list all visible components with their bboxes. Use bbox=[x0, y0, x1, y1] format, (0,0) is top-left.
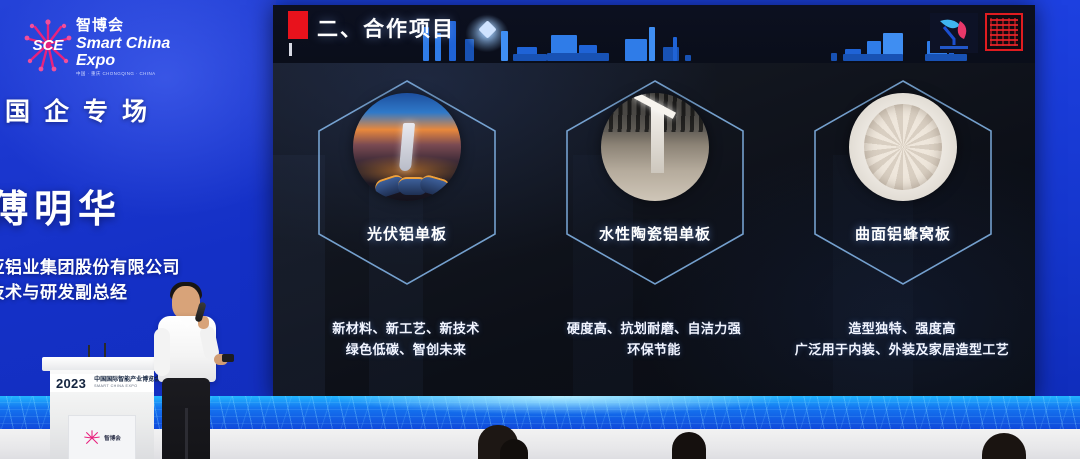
title-tick-mark bbox=[289, 43, 292, 56]
podium-burst-icon bbox=[83, 429, 101, 447]
product-caption-3: 造型独特、强度高 广泛用于内装、外装及家居造型工艺 bbox=[777, 318, 1027, 360]
right-backdrop-column bbox=[1034, 0, 1080, 420]
product-caption-2-line1: 硬度高、抗划耐磨、自洁力强 bbox=[529, 318, 779, 339]
logo-burst-icon: SCE bbox=[20, 18, 76, 74]
presenter-clicker-icon bbox=[222, 354, 234, 362]
logo-english-line1: Smart China bbox=[76, 35, 170, 52]
product-photo-3 bbox=[849, 93, 957, 201]
projected-slide: 二、合作项目 bbox=[273, 5, 1035, 401]
slide-header: 二、合作项目 bbox=[273, 5, 1035, 63]
speaker-name: 傅明华 bbox=[0, 178, 270, 233]
product-title-2: 水性陶瓷铝单板 bbox=[557, 223, 753, 244]
product-caption-1: 新材料、新工艺、新技术 绿色低碳、智创未来 bbox=[281, 318, 531, 360]
product-caption-2-line2: 环保节能 bbox=[529, 339, 779, 360]
speaker-left-arm bbox=[154, 328, 170, 376]
product-caption-3-line1: 造型独特、强度高 bbox=[777, 318, 1027, 339]
product-card-3[interactable]: 曲面铝蜂窝板 造型独特、强度高 广泛用于内装、外装及家居造型工艺 bbox=[777, 63, 1027, 401]
speaker-person bbox=[140, 280, 245, 459]
slide-title: 二、合作项目 bbox=[317, 13, 455, 43]
product-card-row: 光伏铝单板 新材料、新工艺、新技术 绿色低碳、智创未来 bbox=[273, 63, 1035, 401]
speaker-org-line1: 西亚铝业集团股份有限公司 bbox=[0, 255, 270, 280]
logo-english-line2: Expo bbox=[76, 52, 170, 69]
conference-stage-photo: SCE 智博会 Smart China Expo 中国 · 重庆 CHONGQI… bbox=[0, 0, 1080, 459]
session-title: 央国企专场 bbox=[0, 92, 266, 128]
podium-year: 2023 bbox=[56, 376, 86, 391]
podium-branding-band: 2023 中国国际智能产业博览会 SMART CHINA EXPO bbox=[50, 374, 154, 392]
hexagon-frame-2: 水性陶瓷铝单板 bbox=[557, 75, 753, 290]
product-caption-1-line1: 新材料、新工艺、新技术 bbox=[281, 318, 531, 339]
smart-china-expo-logo: SCE 智博会 Smart China Expo 中国 · 重庆 CHONGQI… bbox=[20, 16, 180, 88]
speaker-leg-gap bbox=[185, 408, 188, 459]
hexagon-frame-1: 光伏铝单板 bbox=[309, 75, 505, 290]
logo-text-block: 智博会 Smart China Expo 中国 · 重庆 CHONGQING ·… bbox=[76, 18, 170, 77]
logo-subtitle: 中国 · 重庆 CHONGQING · CHINA bbox=[76, 71, 170, 77]
product-caption-2: 硬度高、抗划耐磨、自洁力强 环保节能 bbox=[529, 318, 779, 360]
audience-head-1b bbox=[500, 439, 528, 459]
red-seal-logo-icon bbox=[985, 13, 1023, 51]
podium-logo-plate: 智博会 bbox=[68, 415, 136, 459]
logo-chinese-name: 智博会 bbox=[76, 18, 170, 34]
product-caption-3-line2: 广泛用于内装、外装及家居造型工艺 bbox=[777, 339, 1027, 360]
product-title-3: 曲面铝蜂窝板 bbox=[805, 223, 1001, 244]
product-title-1: 光伏铝单板 bbox=[309, 223, 505, 244]
product-card-2[interactable]: 水性陶瓷铝单板 硬度高、抗划耐磨、自洁力强 环保节能 bbox=[529, 63, 779, 401]
hexagon-frame-3: 曲面铝蜂窝板 bbox=[805, 75, 1001, 290]
product-photo-2 bbox=[601, 93, 709, 201]
audience-head-2 bbox=[672, 432, 706, 459]
podium-plate-label: 智博会 bbox=[104, 434, 121, 442]
product-caption-1-line2: 绿色低碳、智创未来 bbox=[281, 339, 531, 360]
svg-text:SCE: SCE bbox=[33, 37, 65, 54]
product-photo-1 bbox=[353, 93, 461, 201]
chongqing-swoosh-logo-icon bbox=[930, 13, 978, 53]
title-accent-block bbox=[288, 11, 308, 39]
product-card-1[interactable]: 光伏铝单板 新材料、新工艺、新技术 绿色低碳、智创未来 bbox=[281, 63, 531, 401]
slide-header-logos bbox=[930, 13, 1023, 53]
